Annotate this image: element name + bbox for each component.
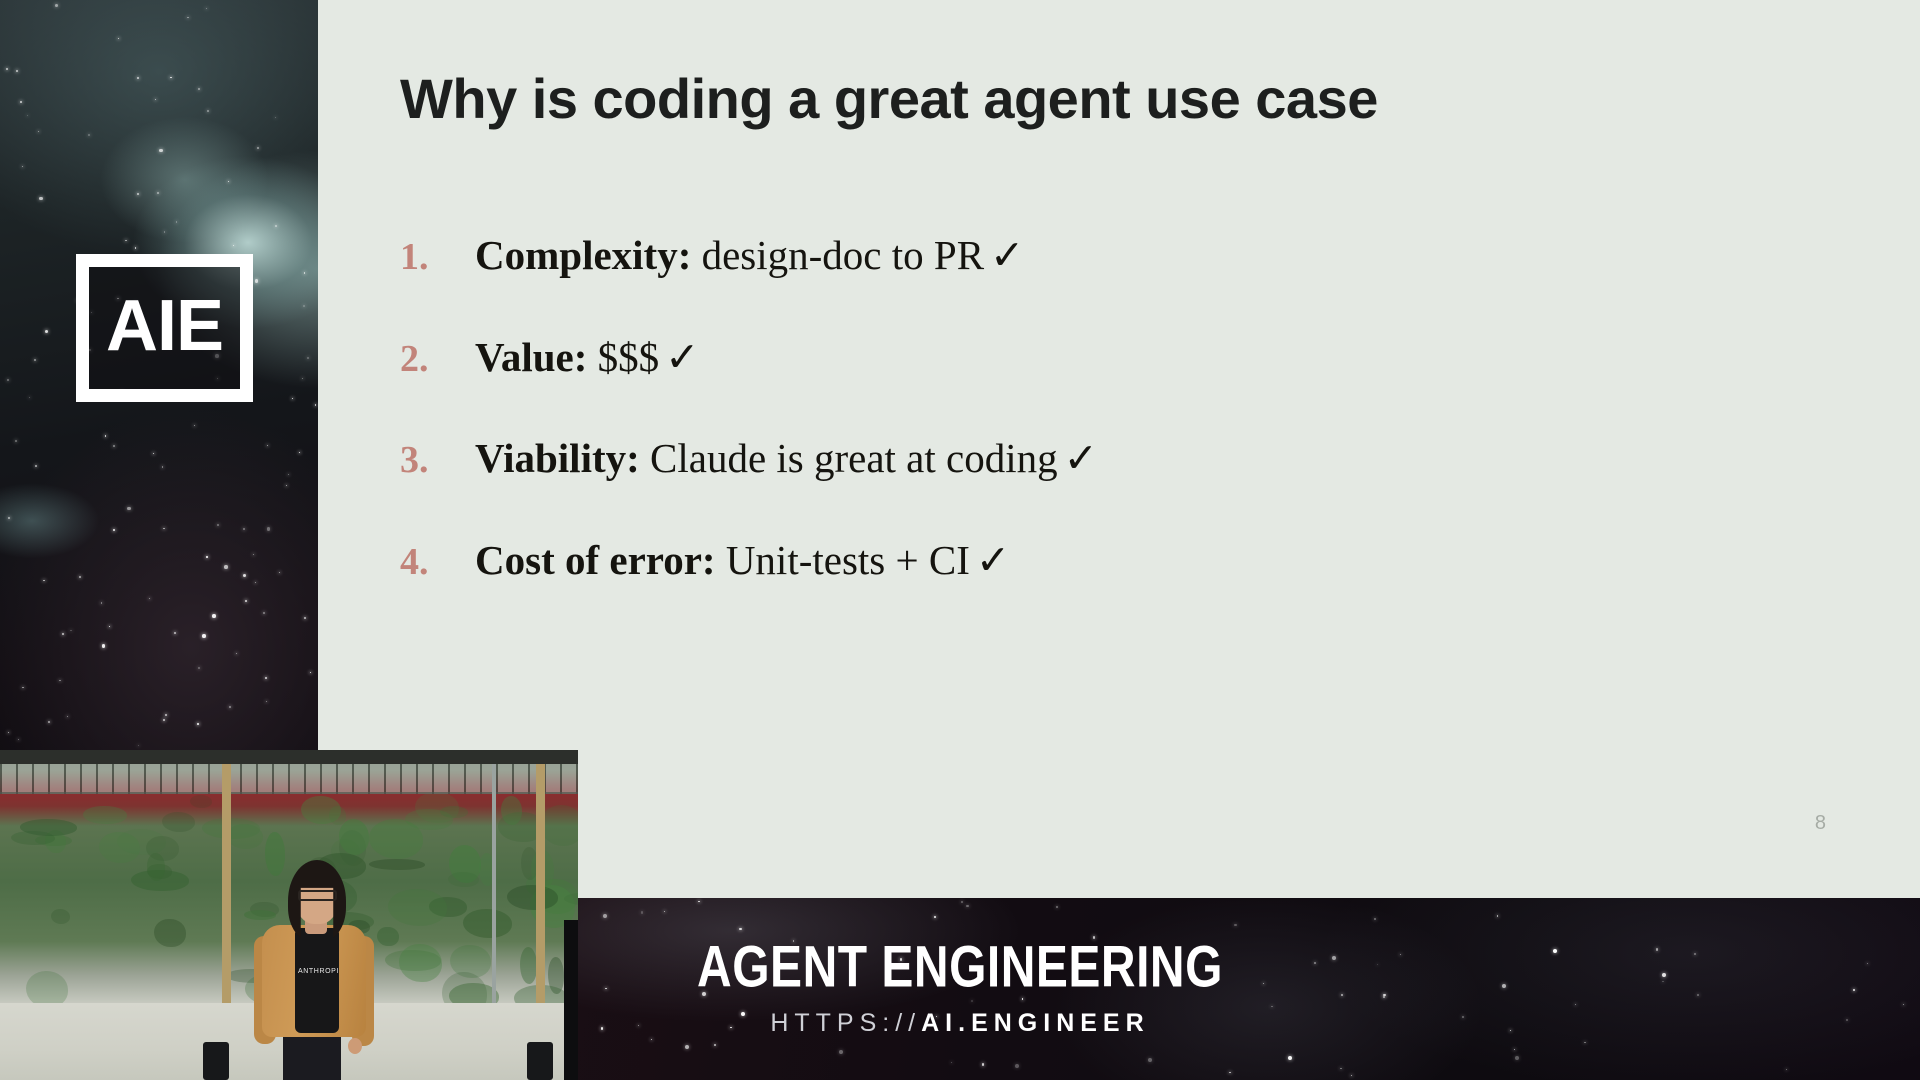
- list-item-text: Claude is great at coding: [650, 435, 1058, 481]
- check-icon: ✓: [976, 537, 1010, 583]
- list-item-body: Value: $$$✓: [475, 334, 1800, 381]
- bullet-list: 1. Complexity: design-doc to PR✓ 2. Valu…: [400, 232, 1800, 639]
- check-icon: ✓: [665, 334, 699, 380]
- banner-url-domain: AI.ENGINEER: [921, 1009, 1150, 1037]
- list-item-text: $$$: [598, 334, 660, 380]
- list-item-number: 3.: [400, 439, 475, 483]
- banner-url: HTTPS://AI.ENGINEER: [770, 1009, 1149, 1038]
- page-number: 8: [1815, 812, 1826, 835]
- aie-logo-text: AIE: [106, 290, 223, 362]
- banner-title: AGENT ENGINEERING: [697, 934, 1223, 1001]
- list-item: 2. Value: $$$✓: [400, 334, 1800, 382]
- check-icon: ✓: [990, 232, 1024, 278]
- window-mullion: [222, 764, 231, 1024]
- list-item-body: Complexity: design-doc to PR✓: [475, 232, 1800, 279]
- webcam-right-edge: [564, 920, 578, 1080]
- list-item-number: 1.: [400, 236, 475, 280]
- window-mullion: [536, 764, 545, 1024]
- banner-url-prefix: HTTPS://: [770, 1009, 921, 1037]
- list-item: 4. Cost of error: Unit-tests + CI✓: [400, 537, 1800, 585]
- list-item-label: Complexity:: [475, 232, 691, 278]
- speaker-shirt-logo: ANTHROPIC: [298, 968, 338, 977]
- page-title: Why is coding a great agent use case: [400, 66, 1700, 131]
- stage-light-icon: [527, 1042, 553, 1080]
- list-item-label: Viability:: [475, 435, 640, 481]
- list-item: 1. Complexity: design-doc to PR✓: [400, 232, 1800, 280]
- slide-stage: AIE Why is coding a great agent use case…: [0, 0, 1920, 1080]
- list-item-number: 2.: [400, 338, 475, 382]
- list-item-label: Cost of error:: [475, 537, 716, 583]
- speaker-webcam-overlay: ANTHROPIC: [0, 750, 578, 1080]
- check-icon: ✓: [1064, 435, 1098, 481]
- list-item: 3. Viability: Claude is great at coding✓: [400, 435, 1800, 483]
- window-mullion: [492, 764, 496, 1024]
- list-item-label: Value:: [475, 334, 587, 380]
- list-item-text: design-doc to PR: [702, 232, 984, 278]
- list-item-number: 4.: [400, 541, 475, 585]
- aie-logo: AIE: [76, 254, 253, 402]
- list-item-text: Unit-tests + CI: [726, 537, 970, 583]
- speaker-hand: [348, 1038, 362, 1054]
- stage-light-icon: [203, 1042, 229, 1080]
- list-item-body: Viability: Claude is great at coding✓: [475, 435, 1800, 482]
- speaker-shirt: [295, 928, 339, 1033]
- list-item-body: Cost of error: Unit-tests + CI✓: [475, 537, 1800, 584]
- glasses-icon: [298, 890, 337, 901]
